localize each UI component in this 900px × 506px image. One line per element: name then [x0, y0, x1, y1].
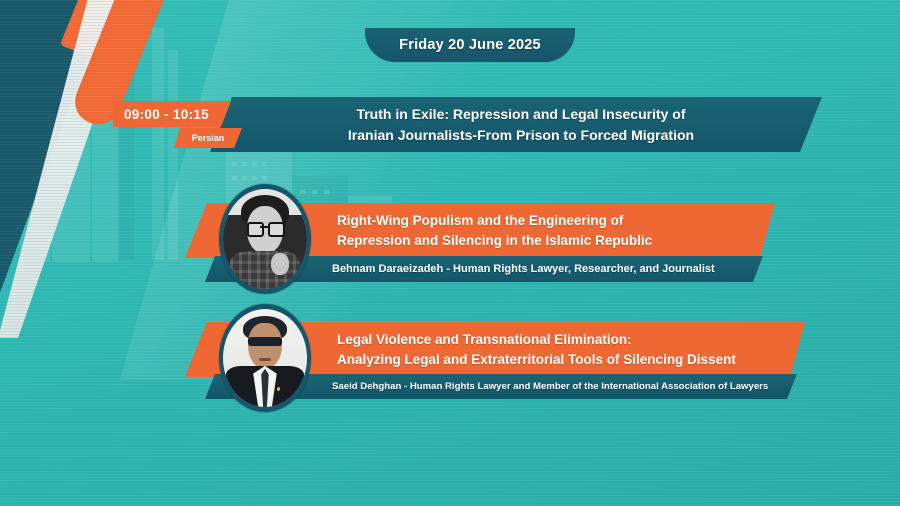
date-label: Friday 20 June 2025 [399, 37, 541, 53]
session-title-line-2: Iranian Journalists-From Prison to Force… [348, 125, 694, 145]
session-time-label: 09:00 - 10:15 [113, 107, 209, 122]
talk-1-title-line-2: Repression and Silencing in the Islamic … [337, 231, 652, 250]
session-title-bar: Truth in Exile: Repression and Legal Ins… [210, 97, 822, 152]
session-time-badge: 09:00 - 10:15 [113, 101, 231, 127]
session-title-line-1: Truth in Exile: Repression and Legal Ins… [348, 104, 694, 124]
poster-canvas: Friday 20 June 2025 Truth in Exile: Repr… [0, 0, 900, 506]
talk-1-portrait [223, 189, 307, 289]
talk-2-title-line-2: Analyzing Legal and Extraterritorial Too… [337, 350, 736, 369]
session-title: Truth in Exile: Repression and Legal Ins… [308, 104, 724, 145]
talk-2-avatar [219, 304, 311, 412]
talk-2-title-line-1: Legal Violence and Transnational Elimina… [337, 330, 736, 349]
date-banner: Friday 20 June 2025 [365, 28, 575, 62]
talk-2-portrait [223, 309, 307, 407]
session-language-label: Persian [192, 133, 225, 143]
session-language-badge: Persian [174, 128, 242, 148]
talk-1-title-line-1: Right-Wing Populism and the Engineering … [337, 211, 652, 230]
talk-1-avatar [219, 184, 311, 294]
